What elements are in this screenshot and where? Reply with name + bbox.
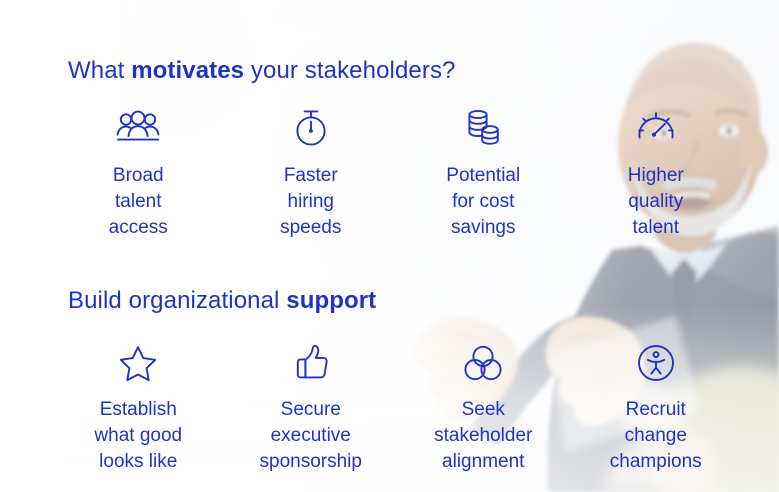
section-1-heading-bold: motivates (131, 57, 244, 84)
coins-stack-icon (463, 104, 503, 150)
item-secure-executive-sponsorship: Secure executive sponsorship (225, 340, 398, 475)
star-outline-icon (117, 340, 159, 386)
item-label: Recruit change champions (610, 397, 702, 475)
person-in-circle-icon (635, 340, 677, 386)
section-2-heading-bold: support (286, 287, 376, 314)
item-label: Seek stakeholder alignment (434, 397, 532, 475)
section-1-heading-plain: What (68, 57, 131, 84)
item-recruit-change-champions: Recruit change champions (570, 340, 743, 475)
section-2-item-row: Establish what good looks like Secure ex… (52, 340, 742, 475)
section-1-heading: What motivates your stakeholders? (68, 57, 456, 85)
item-label: Secure executive sponsorship (260, 397, 362, 475)
item-label: Faster hiring speeds (280, 163, 341, 241)
item-higher-quality-talent: Higher quality talent (570, 104, 743, 241)
section-2-heading-plain: Build organizational (68, 287, 286, 314)
people-group-icon (115, 104, 161, 150)
item-seek-stakeholder-alignment: Seek stakeholder alignment (397, 340, 570, 475)
item-broad-talent-access: Broad talent access (52, 104, 225, 241)
item-faster-hiring-speeds: Faster hiring speeds (225, 104, 398, 241)
thumbs-up-icon (293, 340, 329, 386)
item-label: Establish what good looks like (94, 397, 182, 475)
item-label: Broad talent access (109, 163, 168, 241)
slide-canvas: What motivates your stakeholders? Bro (0, 0, 779, 492)
item-label: Higher quality talent (628, 163, 684, 241)
item-label: Potential for cost savings (446, 163, 520, 241)
venn-diagram-icon (462, 340, 504, 386)
item-establish-what-good-looks-like: Establish what good looks like (52, 340, 225, 475)
stopwatch-icon (292, 104, 330, 150)
speedometer-gauge-icon (635, 104, 677, 150)
section-1-heading-tail: your stakeholders? (244, 57, 455, 84)
section-1-item-row: Broad talent access Faster hiring speeds (52, 104, 742, 241)
section-2-heading: Build organizational support (68, 287, 376, 315)
item-potential-cost-savings: Potential for cost savings (397, 104, 570, 241)
